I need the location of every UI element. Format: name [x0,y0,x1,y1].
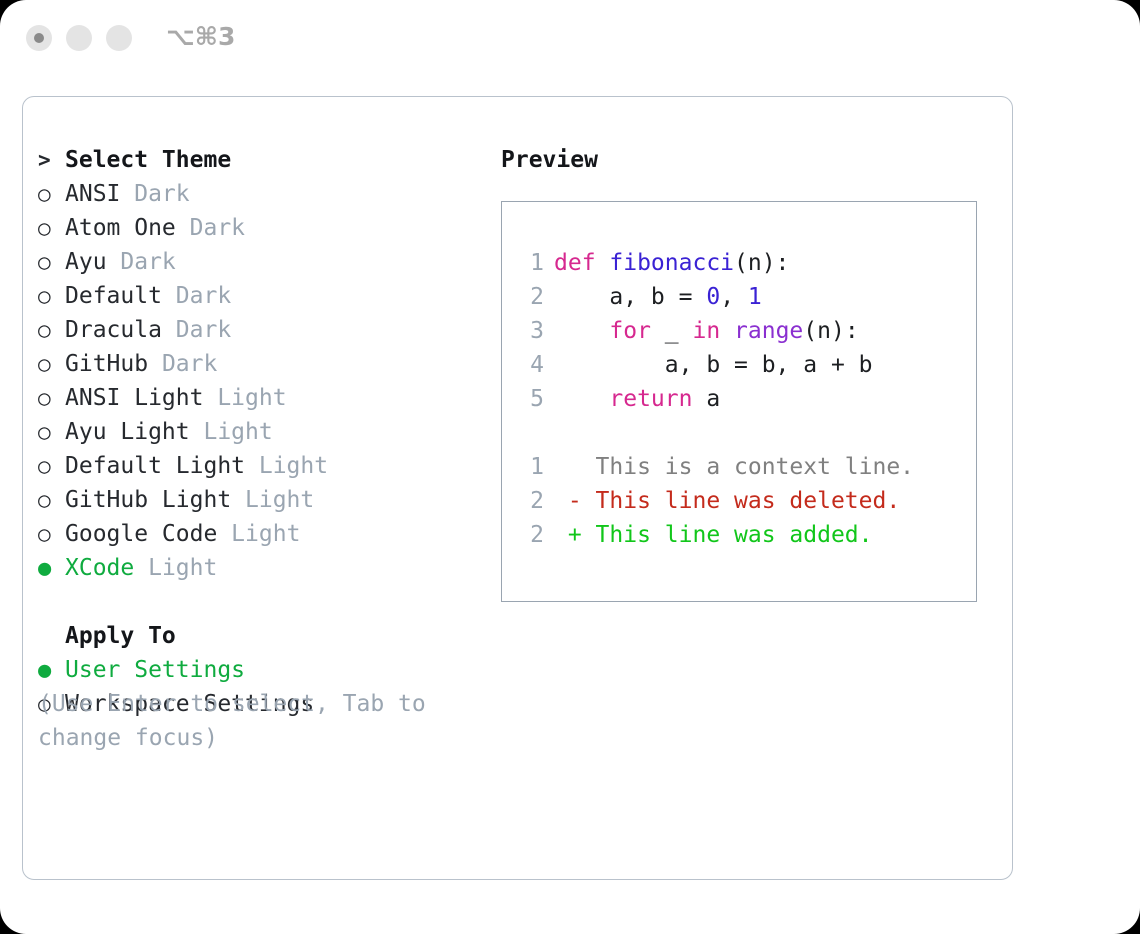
radio-unselected-icon: ○ [38,517,65,551]
prompt-caret-icon: > [38,143,65,177]
radio-unselected-icon: ○ [38,245,65,279]
radio-unselected-icon: ○ [38,415,65,449]
code-token: 1 [748,284,762,310]
code-token [720,318,734,344]
theme-list-item[interactable]: ○GitHub Light Light [38,483,478,517]
theme-list-item[interactable]: ○ANSI Light Light [38,381,478,415]
theme-variant-label: Dark [162,283,231,309]
radio-unselected-icon: ○ [38,211,65,245]
code-token: a [692,386,720,412]
apply-to-marker-placeholder: o [38,619,65,653]
keyboard-shortcut-label: ⌥⌘3 [166,22,235,51]
apply-to-item[interactable]: ●User Settings [38,653,478,687]
app-window: ⌥⌘3 >Select Theme ○ANSI Dark○Atom One Da… [0,0,1140,934]
apply-to-heading-label: Apply To [65,623,176,649]
preview-title: Preview [501,143,991,177]
code-token: 0 [706,284,720,310]
radio-selected-icon: ● [38,552,65,586]
code-token: This is a context line. [554,454,914,480]
theme-list-item[interactable]: ○Default Light Light [38,449,478,483]
radio-unselected-icon: ○ [38,347,65,381]
theme-list-item[interactable]: ○GitHub Dark [38,347,478,381]
theme-list-item[interactable]: ○ANSI Dark [38,177,478,211]
theme-variant-label: Dark [148,351,217,377]
radio-unselected-icon: ○ [38,177,65,211]
theme-variant-label: Dark [120,181,189,207]
theme-name-label: ANSI [65,181,120,207]
preview-column: Preview 1def fibonacci(n):2 a, b = 0, 13… [501,143,991,602]
theme-variant-label: Dark [162,317,231,343]
line-number: 4 [518,348,544,382]
line-number: 1 [518,246,544,280]
theme-variant-label: Light [203,385,286,411]
theme-name-label: Atom One [65,215,176,241]
theme-name-label: Ayu [65,249,107,275]
apply-to-label: User Settings [65,657,245,683]
section-spacer [38,585,478,619]
radio-selected-icon: ● [38,654,65,688]
theme-list-item[interactable]: ○Default Dark [38,279,478,313]
theme-variant-label: Dark [176,215,245,241]
theme-name-label: GitHub [65,351,148,377]
code-line: 2 - This line was deleted. [518,484,970,518]
traffic-light-indicator-dot [34,33,44,43]
theme-list: ○ANSI Dark○Atom One Dark○Ayu Dark○Defaul… [38,177,478,585]
theme-name-label: Ayu Light [65,419,190,445]
keyboard-hint-text: (Use Enter to select, Tab to change focu… [38,687,450,755]
theme-name-label: Default Light [65,453,245,479]
code-token: (n): [803,318,858,344]
theme-variant-label: Light [134,555,217,581]
theme-variant-label: Light [190,419,273,445]
line-number: 1 [518,450,544,484]
theme-selector-column: >Select Theme ○ANSI Dark○Atom One Dark○A… [38,143,478,721]
theme-name-label: GitHub Light [65,487,231,513]
main-panel: >Select Theme ○ANSI Dark○Atom One Dark○A… [22,96,1013,880]
code-token [554,386,609,412]
radio-unselected-icon: ○ [38,313,65,347]
code-line: 4 a, b = b, a + b [518,348,970,382]
code-preview: 1def fibonacci(n):2 a, b = 0, 13 for _ i… [518,246,970,552]
title-bar: ⌥⌘3 [0,0,1140,78]
radio-unselected-icon: ○ [38,381,65,415]
code-token: for [609,318,651,344]
code-line: 1def fibonacci(n): [518,246,970,280]
line-number: 2 [518,280,544,314]
theme-variant-label: Dark [107,249,176,275]
theme-name-label: Google Code [65,521,217,547]
theme-name-label: ANSI Light [65,385,203,411]
theme-variant-label: Light [231,487,314,513]
theme-name-label: XCode [65,555,134,581]
radio-unselected-icon: ○ [38,483,65,517]
code-line: 1 This is a context line. [518,450,970,484]
theme-list-item[interactable]: ○Atom One Dark [38,211,478,245]
preview-box: 1def fibonacci(n):2 a, b = 0, 13 for _ i… [501,201,977,602]
theme-list-item[interactable]: ○Dracula Dark [38,313,478,347]
code-line: 2 a, b = 0, 1 [518,280,970,314]
line-number: 2 [518,484,544,518]
code-token: range [734,318,803,344]
code-token: , [720,284,748,310]
code-token: + This line was added. [554,522,873,548]
line-number: 2 [518,518,544,552]
code-token: a, b = [554,284,706,310]
apply-to-heading: oApply To [38,619,478,653]
traffic-light-button-1[interactable] [26,25,52,51]
code-token: return [609,386,692,412]
theme-list-item[interactable]: ○Ayu Dark [38,245,478,279]
code-line [518,416,970,450]
theme-variant-label: Light [245,453,328,479]
code-token [554,318,609,344]
select-theme-heading: >Select Theme [38,143,478,177]
theme-variant-label: Light [217,521,300,547]
code-token: - This line was deleted. [554,488,900,514]
code-token: a, b = b, a + b [554,352,873,378]
theme-list-item[interactable]: ○Google Code Light [38,517,478,551]
theme-name-label: Dracula [65,317,162,343]
line-number: 3 [518,314,544,348]
traffic-light-button-3[interactable] [106,25,132,51]
code-line: 5 return a [518,382,970,416]
theme-name-label: Default [65,283,162,309]
code-token: _ [651,318,693,344]
radio-unselected-icon: ○ [38,449,65,483]
code-line: 2 + This line was added. [518,518,970,552]
radio-unselected-icon: ○ [38,279,65,313]
code-token: (n): [734,250,789,276]
theme-list-item[interactable]: ●XCode Light [38,551,478,585]
code-token: def [554,250,609,276]
select-theme-heading-label: Select Theme [65,147,231,173]
code-token: in [692,318,720,344]
code-line: 3 for _ in range(n): [518,314,970,348]
code-token: fibonacci [609,250,734,276]
theme-list-item[interactable]: ○Ayu Light Light [38,415,478,449]
line-number: 5 [518,382,544,416]
traffic-light-button-2[interactable] [66,25,92,51]
